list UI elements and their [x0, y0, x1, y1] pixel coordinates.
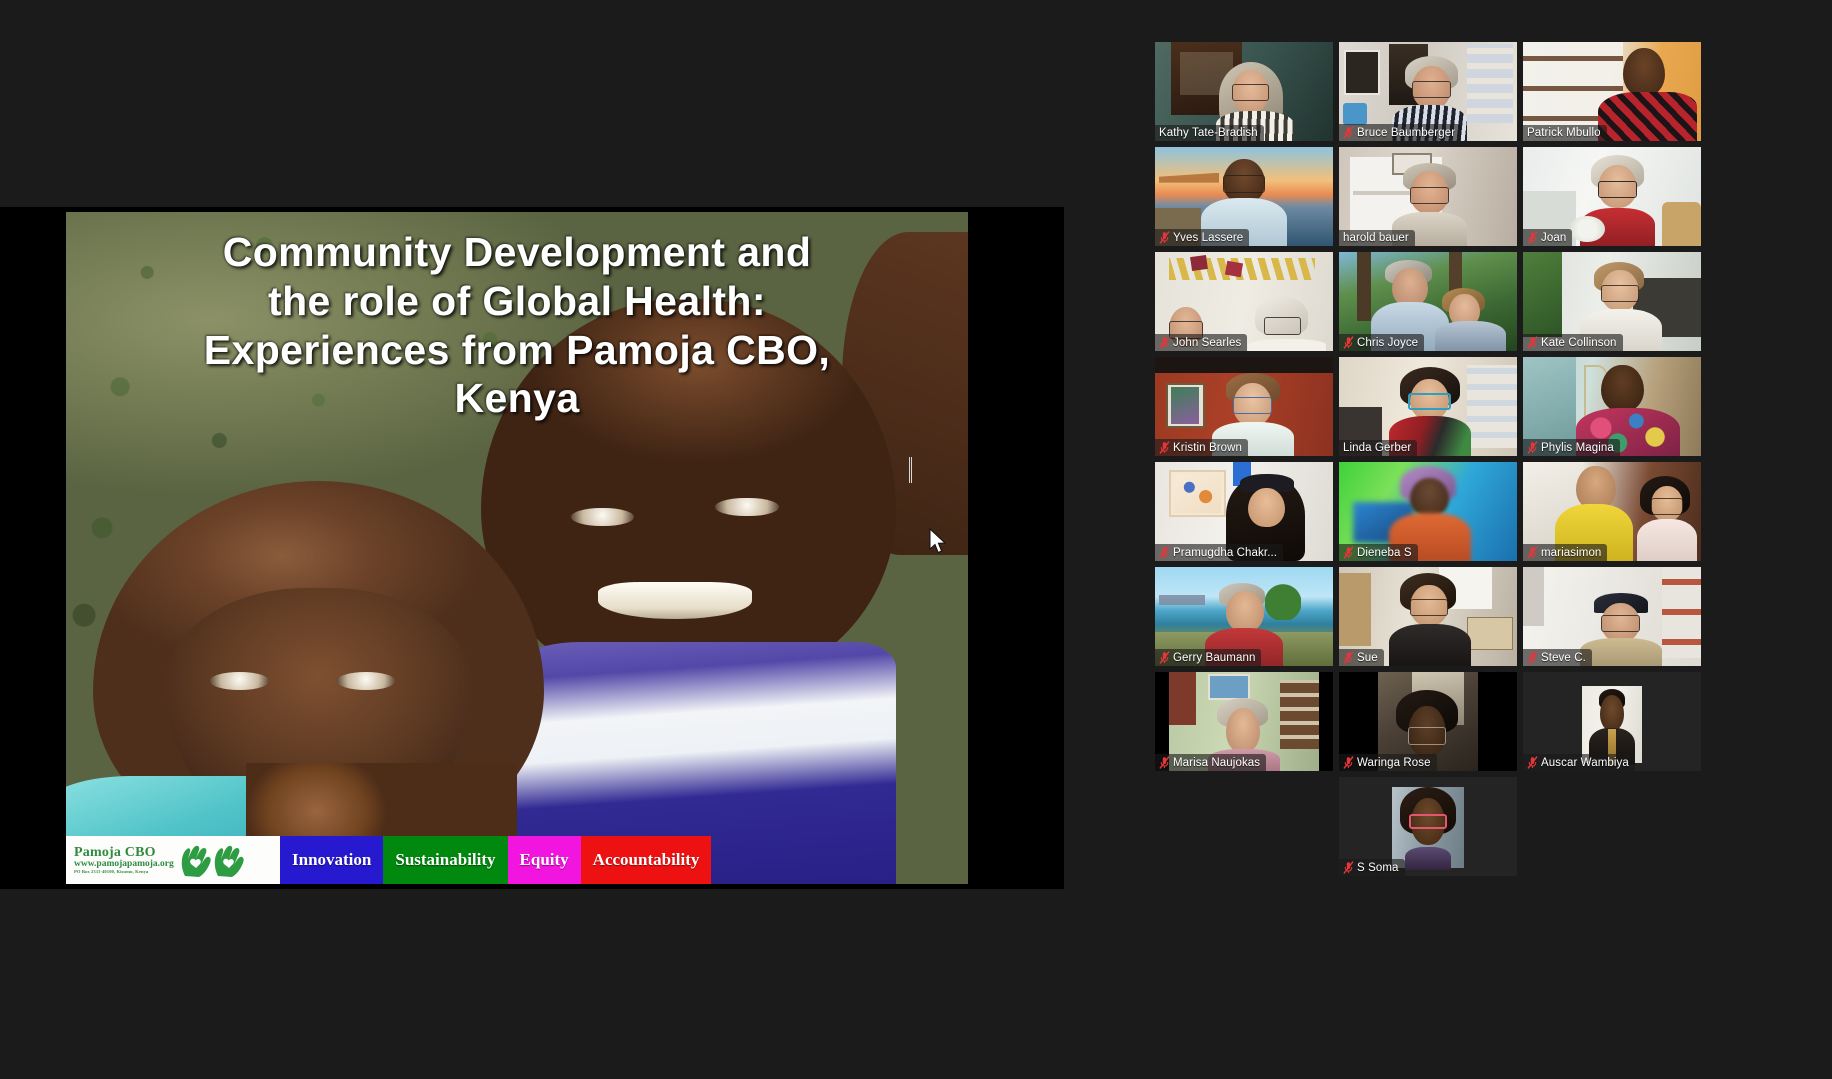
name-plate: Gerry Baumann	[1155, 649, 1261, 666]
name-plate: Kate Collinson	[1523, 334, 1623, 351]
participant-name: mariasimon	[1541, 547, 1601, 559]
name-plate: Phylis Magina	[1523, 439, 1620, 456]
participant-tile-mariasimon[interactable]: mariasimon	[1523, 462, 1701, 561]
mic-muted-icon	[1527, 336, 1538, 349]
mic-muted-icon	[1159, 756, 1170, 769]
participant-tile-kristin-brown[interactable]: Kristin Brown	[1155, 357, 1333, 456]
slide-title-line: Experiences from Pamoja CBO,	[88, 326, 946, 375]
video-feed	[1392, 787, 1463, 868]
helping-hands-icon	[178, 840, 250, 880]
value-pills: Innovation Sustainability Equity Account…	[280, 836, 968, 884]
mic-muted-icon	[1527, 651, 1538, 664]
mic-muted-icon	[1159, 336, 1170, 349]
mic-muted-icon	[1343, 861, 1354, 874]
gallery-row: Pramugdha Chakr...	[1155, 462, 1815, 561]
participant-name: Joan	[1541, 232, 1566, 244]
participant-tile-kathy-tate-bradish[interactable]: Kathy Tate-Bradish	[1155, 42, 1333, 141]
gallery-empty-slot	[1155, 777, 1333, 876]
mic-muted-icon	[1159, 651, 1170, 664]
slide-footer-banner: Pamoja CBO www.pamojapamoja.org PO Box 2…	[66, 836, 968, 884]
name-plate: Pramugdha Chakr...	[1155, 544, 1283, 561]
name-plate: Patrick Mbullo	[1523, 125, 1607, 141]
participant-tile-chris-joyce[interactable]: Chris Joyce	[1339, 252, 1517, 351]
participant-tile-kate-collinson[interactable]: Kate Collinson	[1523, 252, 1701, 351]
participant-tile-dieneba-s[interactable]: Dieneba S	[1339, 462, 1517, 561]
mic-muted-icon	[1343, 126, 1354, 139]
name-plate: Bruce Baumberger	[1339, 124, 1461, 141]
name-plate: Kristin Brown	[1155, 439, 1248, 456]
name-plate: mariasimon	[1523, 544, 1607, 561]
slide-title-line: Kenya	[88, 374, 946, 423]
mouse-cursor	[929, 528, 947, 556]
participant-name: Linda Gerber	[1343, 442, 1411, 454]
participant-name: Kathy Tate-Bradish	[1159, 127, 1258, 139]
smile	[598, 582, 751, 619]
name-plate: Dieneba S	[1339, 544, 1418, 561]
participant-tile-linda-gerber[interactable]: Linda Gerber	[1339, 357, 1517, 456]
mic-muted-icon	[1159, 441, 1170, 454]
participant-tile-gerry-baumann[interactable]: Gerry Baumann	[1155, 567, 1333, 666]
shared-screen-region[interactable]: Community Development and the role of Gl…	[0, 0, 1064, 1079]
participant-name: Sue	[1357, 652, 1378, 664]
participant-tile-john-searles[interactable]: John Searles	[1155, 252, 1333, 351]
participant-tile-phylis-magina[interactable]: Phylis Magina	[1523, 357, 1701, 456]
participant-name: Steve C.	[1541, 652, 1586, 664]
name-plate: Sue	[1339, 649, 1384, 666]
participant-tile-marisa-naujokas[interactable]: Marisa Naujokas	[1155, 672, 1333, 771]
participant-tile-sue[interactable]: Sue	[1339, 567, 1517, 666]
value-pill-sustainability: Sustainability	[383, 836, 507, 884]
mic-muted-icon	[1159, 546, 1170, 559]
participant-tile-steve-c[interactable]: Steve C.	[1523, 567, 1701, 666]
logo-address: PO Box 2311-40100, Kisumu, Kenya	[74, 870, 174, 875]
participant-tile-bruce-baumberger[interactable]: Bruce Baumberger	[1339, 42, 1517, 141]
participant-name: John Searles	[1173, 337, 1241, 349]
mic-muted-icon	[1343, 651, 1354, 664]
value-pill-accountability: Accountability	[581, 836, 712, 884]
name-plate: Chris Joyce	[1339, 334, 1424, 351]
participant-tile-pramugdha-chakraborty[interactable]: Pramugdha Chakr...	[1155, 462, 1333, 561]
name-plate: John Searles	[1155, 334, 1247, 351]
participant-name: Patrick Mbullo	[1527, 127, 1601, 139]
value-pill-innovation: Innovation	[280, 836, 383, 884]
participant-name: Auscar Wambiya	[1541, 757, 1629, 769]
participant-tile-harold-bauer[interactable]: harold bauer	[1339, 147, 1517, 246]
video-feed	[1582, 686, 1643, 763]
value-pill-equity: Equity	[508, 836, 581, 884]
name-plate: Kathy Tate-Bradish	[1155, 125, 1264, 141]
slide-title-line: the role of Global Health:	[88, 277, 946, 326]
mic-muted-icon	[1527, 441, 1538, 454]
participant-tile-auscar-wambiya[interactable]: Auscar Wambiya	[1523, 672, 1701, 771]
name-plate: harold bauer	[1339, 230, 1415, 246]
participant-gallery[interactable]: Kathy Tate-Bradish	[1155, 42, 1815, 1054]
gallery-row: John Searles	[1155, 252, 1815, 351]
participant-name: harold bauer	[1343, 232, 1409, 244]
participant-tile-yves-lassere[interactable]: Yves Lassere	[1155, 147, 1333, 246]
gallery-empty-slot	[1523, 777, 1701, 876]
participant-tile-patrick-mbullo[interactable]: Patrick Mbullo	[1523, 42, 1701, 141]
eye-icon	[715, 498, 778, 517]
panel-resize-handle[interactable]	[908, 457, 914, 483]
participant-name: Yves Lassere	[1173, 232, 1243, 244]
eye-icon	[337, 672, 396, 689]
participant-name: Dieneba S	[1357, 547, 1412, 559]
name-plate: Linda Gerber	[1339, 440, 1417, 456]
mic-muted-icon	[1343, 756, 1354, 769]
gallery-row: S Soma	[1155, 777, 1815, 876]
mic-muted-icon	[1343, 546, 1354, 559]
gallery-row: Yves Lassere harold bauer	[1155, 147, 1815, 246]
participant-tile-joan[interactable]: Joan	[1523, 147, 1701, 246]
mic-muted-icon	[1527, 756, 1538, 769]
name-plate: Waringa Rose	[1339, 754, 1437, 771]
participant-name: Marisa Naujokas	[1173, 757, 1260, 769]
participant-name: Pramugdha Chakr...	[1173, 547, 1277, 559]
name-plate: Joan	[1523, 229, 1572, 246]
participant-name: Gerry Baumann	[1173, 652, 1255, 664]
gallery-row: Kristin Brown Linda Gerber	[1155, 357, 1815, 456]
participant-name: Waringa Rose	[1357, 757, 1431, 769]
participant-name: Phylis Magina	[1541, 442, 1614, 454]
name-plate: Yves Lassere	[1155, 229, 1249, 246]
participant-name: Bruce Baumberger	[1357, 127, 1455, 139]
pamoja-logo: Pamoja CBO www.pamojapamoja.org PO Box 2…	[66, 836, 280, 884]
participant-name: Kristin Brown	[1173, 442, 1242, 454]
participant-name: S Soma	[1357, 862, 1399, 874]
name-plate: Marisa Naujokas	[1155, 754, 1266, 771]
participant-tile-s-soma[interactable]: S Soma	[1339, 777, 1517, 876]
zoom-meeting-window: Community Development and the role of Gl…	[0, 0, 1832, 1079]
gallery-row: Kathy Tate-Bradish	[1155, 42, 1815, 141]
mic-muted-icon	[1527, 546, 1538, 559]
mic-muted-icon	[1527, 231, 1538, 244]
participant-name: Kate Collinson	[1541, 337, 1617, 349]
gallery-row: Marisa Naujokas	[1155, 672, 1815, 771]
mic-muted-icon	[1343, 336, 1354, 349]
participant-tile-waringa-rose[interactable]: Waringa Rose	[1339, 672, 1517, 771]
presentation-slide[interactable]: Community Development and the role of Gl…	[66, 212, 968, 884]
name-plate: Auscar Wambiya	[1523, 754, 1635, 771]
mic-muted-icon	[1159, 231, 1170, 244]
gallery-row: Gerry Baumann	[1155, 567, 1815, 666]
name-plate: S Soma	[1339, 859, 1405, 876]
name-plate: Steve C.	[1523, 649, 1592, 666]
eye-icon	[210, 672, 269, 689]
slide-title: Community Development and the role of Gl…	[66, 228, 968, 423]
slide-title-line: Community Development and	[88, 228, 946, 277]
participant-name: Chris Joyce	[1357, 337, 1418, 349]
logo-org-name: Pamoja CBO	[74, 846, 174, 860]
